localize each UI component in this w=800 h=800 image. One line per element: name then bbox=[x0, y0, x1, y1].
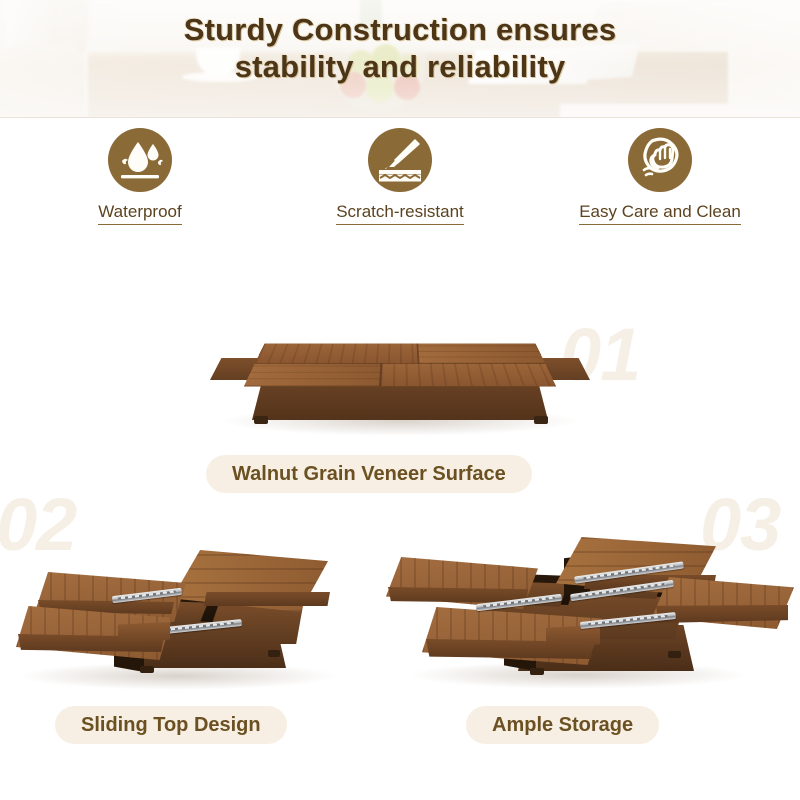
knife-scratch-icon bbox=[368, 128, 432, 192]
feature-label: Easy Care and Clean bbox=[579, 202, 741, 225]
feature-label: Scratch-resistant bbox=[336, 202, 464, 225]
feature-item-waterproof[interactable]: Waterproof bbox=[45, 128, 235, 225]
product-image-sliding-top bbox=[8, 530, 348, 690]
header-divider bbox=[0, 117, 800, 118]
product-image-closed-table bbox=[190, 288, 610, 438]
showcase-caption-01: Walnut Grain Veneer Surface bbox=[206, 455, 532, 493]
product-image-ample-storage bbox=[368, 525, 788, 690]
header-title-line1: Sturdy Construction ensures bbox=[184, 12, 617, 47]
header-title-line2: stability and reliability bbox=[0, 49, 800, 86]
feature-list: Waterproof Scratch-resistant bbox=[0, 128, 800, 246]
header-banner: Sturdy Construction ensures stability an… bbox=[0, 0, 800, 118]
header-title: Sturdy Construction ensures stability an… bbox=[0, 12, 800, 85]
showcase-caption-03: Ample Storage bbox=[466, 706, 659, 744]
feature-item-easy-care[interactable]: Easy Care and Clean bbox=[565, 128, 755, 225]
table-top-parquet bbox=[244, 344, 556, 386]
water-drop-icon bbox=[108, 128, 172, 192]
feature-label: Waterproof bbox=[98, 202, 181, 225]
showcase-caption-02: Sliding Top Design bbox=[55, 706, 287, 744]
hand-cloth-icon bbox=[628, 128, 692, 192]
feature-item-scratch-resistant[interactable]: Scratch-resistant bbox=[305, 128, 495, 225]
